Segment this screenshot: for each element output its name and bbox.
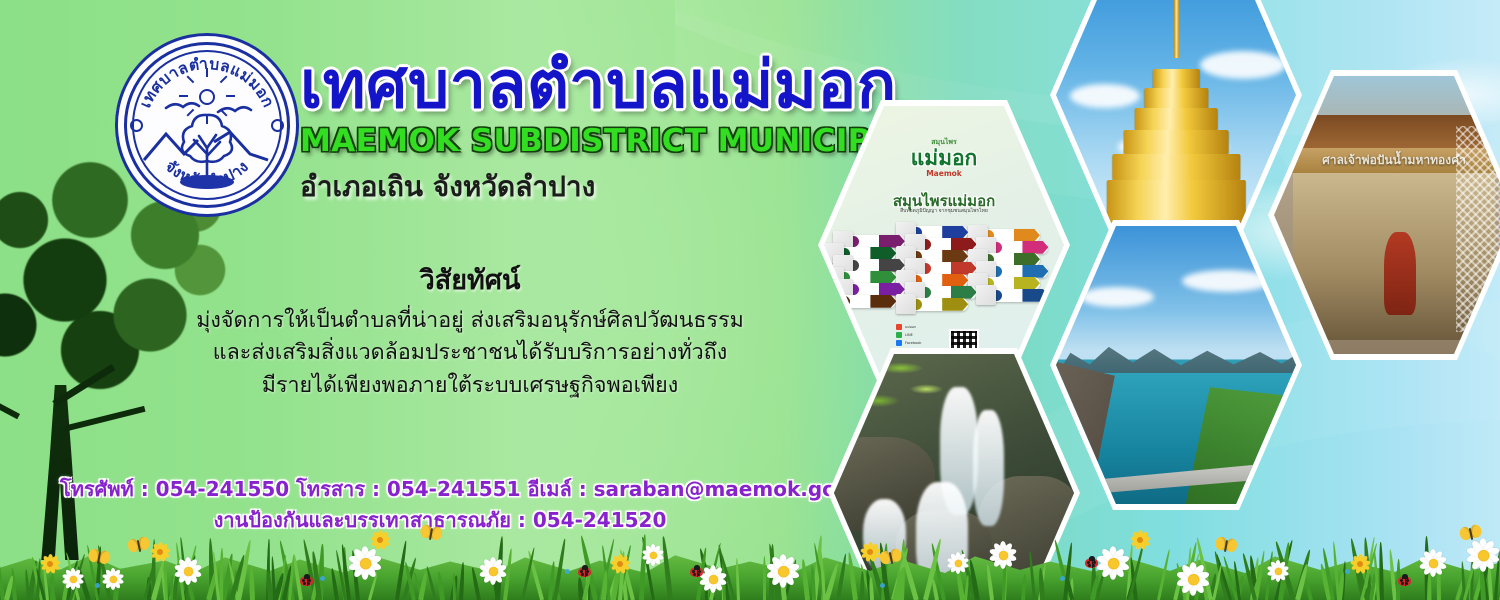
hex-golden-pagoda[interactable]: วัดพ บ้านกุ่ อำเภ xyxy=(1050,0,1302,240)
municipality-banner: เทศบาลตำบลแม่มอก จังหวัดลำปาง xyxy=(0,0,1500,600)
hex-waterfall[interactable] xyxy=(828,348,1080,600)
herbal-product-chip xyxy=(838,295,896,308)
golden-chedi xyxy=(1106,6,1245,223)
herbal-product-chip xyxy=(919,286,977,299)
product-color-bar xyxy=(1014,229,1040,242)
product-color-bar xyxy=(1014,277,1040,290)
herbal-poster-canvas: สมุนไพร แม่มอก Maemok สมุนไพรแม่มอก สืบท… xyxy=(824,106,1064,384)
herbal-logo-sub: Maemok xyxy=(911,169,978,178)
chedi-tier xyxy=(1144,88,1208,108)
waterfall-foliage xyxy=(834,354,983,471)
vision-line-2: และส่งเสริมสิ่งแวดล้อมประชาชนได้รับบริกา… xyxy=(120,337,820,369)
bird-icons xyxy=(166,103,251,112)
herbal-product-chip xyxy=(990,289,1048,302)
herbal-product-chip xyxy=(990,241,1048,254)
product-color-bar xyxy=(870,247,896,260)
chedi-tier xyxy=(1152,69,1199,89)
contact-line-emergency: งานป้องกันและบรรเทาสาธารณภัย : 054-24152… xyxy=(60,505,820,536)
hex-shrine-image: ศาลเจ้าพ่อปันน้ำมหาทองคำ xyxy=(1274,76,1500,354)
tree-base xyxy=(180,175,234,189)
hex-herbal-poster[interactable]: สมุนไพร แม่มอก Maemok สมุนไพรแม่มอก สืบท… xyxy=(818,100,1070,390)
pagoda-sublabel-1: บ้านกุ่ xyxy=(1262,0,1282,8)
product-color-bar xyxy=(1014,253,1040,266)
product-color-bar xyxy=(1022,265,1048,278)
product-thumbnail xyxy=(896,294,916,314)
product-color-bar xyxy=(942,274,968,287)
shrine-metal-gate xyxy=(1456,126,1500,332)
herbal-logo-main: แม่มอก xyxy=(911,148,978,169)
seal-emblem-artwork xyxy=(118,36,296,214)
product-color-bar xyxy=(942,250,968,263)
vision-block: วิสัยทัศน์ มุ่งจัดการให้เป็นตำบลที่น่าอย… xyxy=(120,258,820,402)
waterfall-stream xyxy=(916,482,969,593)
hexagon-photo-cluster: สมุนไพร แม่มอก Maemok สมุนไพรแม่มอก สืบท… xyxy=(800,0,1500,600)
chedi-spire xyxy=(1174,0,1179,58)
herbal-product-chip xyxy=(910,298,968,311)
hex-reservoir-image xyxy=(1056,226,1296,504)
pagoda-sublabel-2: อำเภ xyxy=(1264,14,1281,27)
product-thumbnail xyxy=(976,285,996,305)
vision-line-3: มีรายได้เพียงพอภายใต้ระบบเศรษฐกิจพอเพียง xyxy=(120,370,820,402)
product-dot-icon xyxy=(839,296,850,307)
hex-herbal-poster-image: สมุนไพร แม่มอก Maemok สมุนไพรแม่มอก สืบท… xyxy=(824,106,1064,384)
shrine-statue xyxy=(1384,232,1415,315)
shrine-sign-text: ศาลเจ้าพ่อปันน้ำมหาทองคำ xyxy=(1322,151,1466,170)
herbal-product-chip xyxy=(990,265,1048,278)
rosette-icon xyxy=(130,119,143,132)
herbal-logo: สมุนไพร แม่มอก Maemok xyxy=(911,137,978,178)
municipality-seal: เทศบาลตำบลแม่มอก จังหวัดลำปาง xyxy=(118,36,296,214)
waterfall-stream xyxy=(863,499,906,571)
hex-golden-pagoda-image: วัดพ บ้านกุ่ อำเภ xyxy=(1056,0,1296,234)
product-color-bar xyxy=(870,295,896,308)
product-color-bar xyxy=(942,298,968,311)
vision-heading: วิสัยทัศน์ xyxy=(120,258,820,301)
product-thumbnail xyxy=(824,291,844,311)
contact-line-primary: โทรศัพท์ : 054-241550 โทรสาร : 054-24155… xyxy=(60,474,820,505)
contact-block: โทรศัพท์ : 054-241550 โทรสาร : 054-24155… xyxy=(60,474,820,536)
product-color-bar xyxy=(951,286,977,299)
product-color-bar xyxy=(942,226,968,239)
chedi-tier xyxy=(1134,108,1218,130)
hex-waterfall-image xyxy=(834,354,1074,600)
chedi-base xyxy=(1106,180,1245,223)
chedi-tier xyxy=(1112,154,1240,180)
hex-reservoir[interactable] xyxy=(1050,220,1302,510)
herbal-product-chips xyxy=(838,223,1049,334)
product-color-bar xyxy=(870,271,896,284)
product-color-bar xyxy=(1022,241,1048,254)
product-color-bar xyxy=(1022,289,1048,302)
herbal-poster-subtitle: สืบทอดภูมิปัญญา จากชุมชนสมุนไพรไทย xyxy=(900,207,988,215)
chedi-tier xyxy=(1123,130,1229,154)
hex-shrine[interactable]: ศาลเจ้าพ่อปันน้ำมหาทองคำ xyxy=(1268,70,1500,360)
vision-line-1: มุ่งจัดการให้เป็นตำบลที่น่าอยู่ ส่งเสริม… xyxy=(120,305,820,337)
rosette-icon xyxy=(271,119,284,132)
